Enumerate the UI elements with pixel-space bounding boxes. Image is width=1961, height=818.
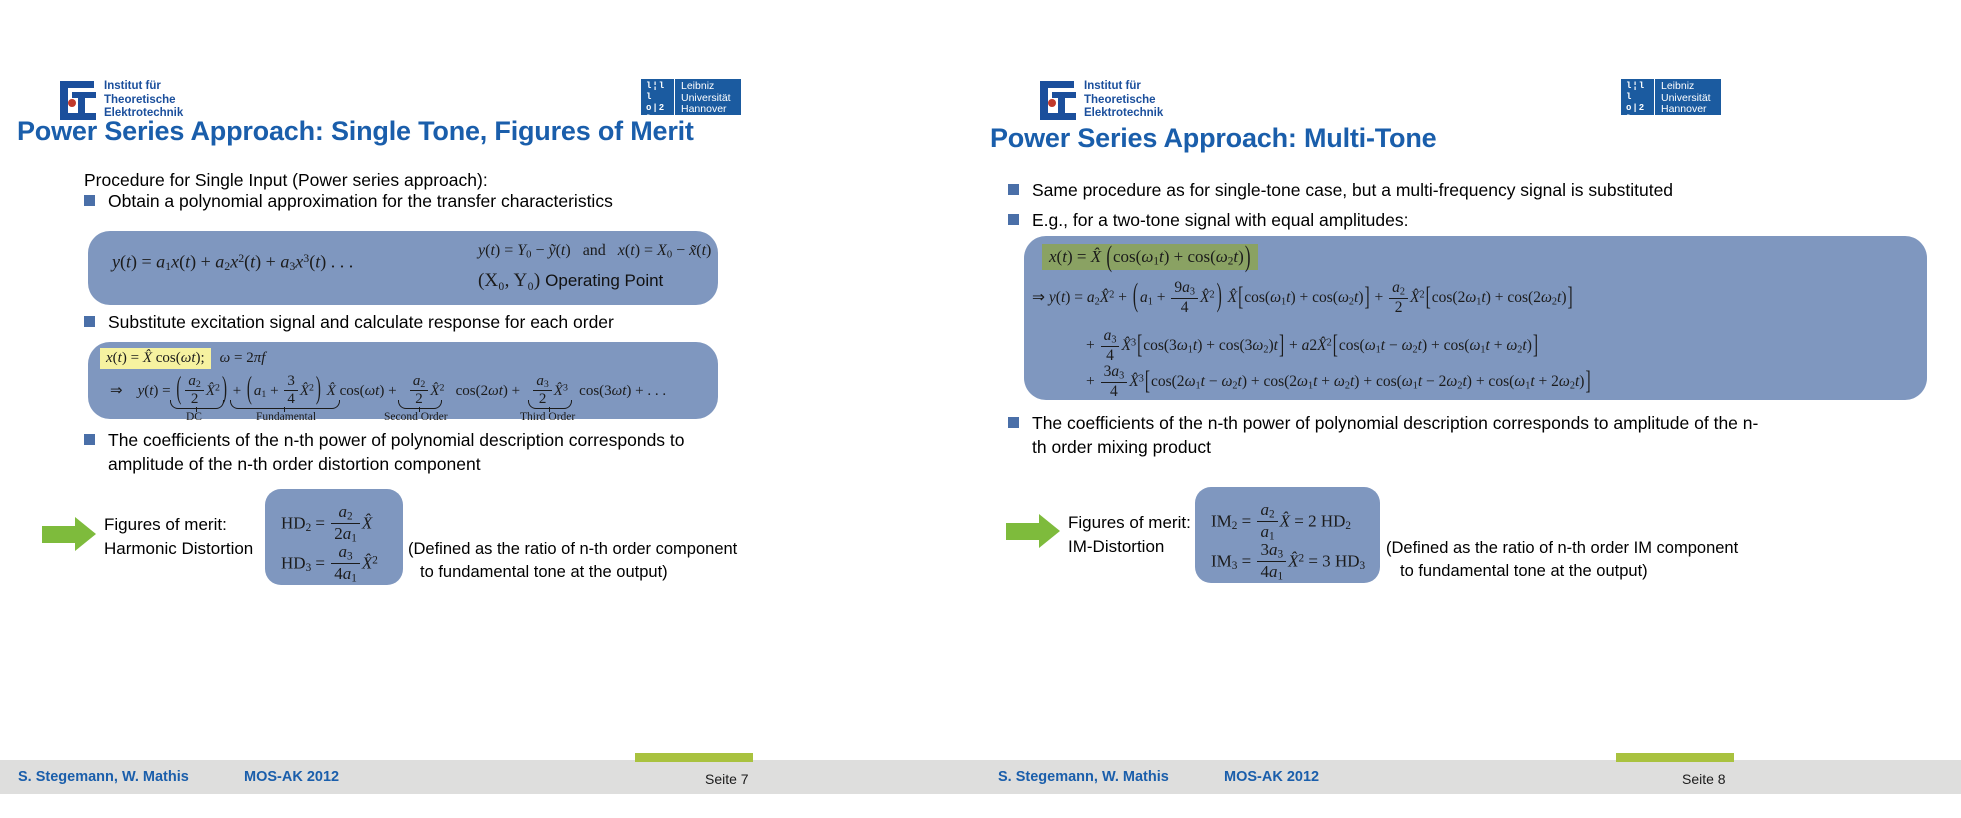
footer-authors: S. Stegemann, W. Mathis [998,769,1169,785]
page-title: Power Series Approach: Multi-Tone [990,123,1436,154]
university-logo-name: Leibniz Universität Hannover [1655,79,1721,115]
fom-note-line-1: (Defined as the ratio of n-th order comp… [408,538,737,561]
fom-note-line-2: to fundamental tone at the output) [1386,560,1738,583]
footer-conference: MOS-AK 2012 [244,769,339,785]
university-logo-code: l¦l l o|2 l o o|4 [1621,79,1655,115]
bullet-label: The coefficients of the n-th power of po… [95,428,704,476]
uni-line-1: Leibniz [681,81,731,93]
university-logo: l¦l l o|2 l o o|4 Leibniz Universität Ha… [641,79,741,115]
slide-7: Institut für Theoretische Elektrotechnik… [0,0,980,818]
institute-line-1: Institut für [104,80,183,94]
institute-logo: Institut für Theoretische Elektrotechnik [1038,78,1163,122]
fom-line-2: Harmonic Distortion [104,537,253,561]
green-arrow-icon [42,517,98,551]
operating-point-row: (X₀, Y₀) Operating Point [478,270,663,292]
omega-definition: ω = 2πf [211,350,266,367]
slide-8: Institut für Theoretische Elektrotechnik… [980,0,1961,818]
bullet-label: Substitute excitation signal and calcula… [95,310,614,334]
formula-box-harmonic-distortion: HD2 = a22a1X̂ HD3 = a34a1X̂2 [265,489,403,585]
uni-code-3: l o o|4 [1626,114,1654,136]
formula-power-series: y(t) = a1x(t) + a2x2(t) + a3x3(t) . . . [112,251,353,274]
formula-box-im-distortion: IM2 = a2a1X̂ = 2 HD2 IM3 = 3a34a1X̂2 = 3… [1195,487,1380,583]
fom-line-2: IM-Distortion [1068,535,1191,559]
fom-line-1: Figures of merit: [1068,511,1191,535]
footer-authors: S. Stegemann, W. Mathis [18,769,189,785]
university-logo: l¦l l o|2 l o o|4 Leibniz Universität Ha… [1621,79,1721,115]
uni-line-3: Hannover [1661,104,1711,116]
underbrace-label-second-order: Second Order [384,411,448,423]
university-logo-name: Leibniz Universität Hannover [675,79,741,115]
institute-line-1: Institut für [1084,80,1163,94]
bullet-square-icon [1008,184,1019,195]
underbrace-label-third-order: Third Order [520,411,575,423]
formula-operating-definitions: y(t) = Y0 − ỹ(t) and x(t) = X0 − x̃(t) [478,242,711,260]
underbrace-label-fundamental: Fundamental [256,411,316,423]
uni-code-2: l o|2 [1626,92,1654,114]
fom-note-line-1: (Defined as the ratio of n-th order IM c… [1386,537,1738,560]
bullet-two-tone-example: E.g., for a two-tone signal with equal a… [1008,208,1708,232]
bullet-square-icon [84,195,95,206]
slide-footer: S. Stegemann, W. Mathis MOS-AK 2012 Seit… [0,760,980,794]
bullet-square-icon [1008,214,1019,225]
green-arrow-icon [1006,514,1062,548]
figures-of-merit-label: Figures of merit: IM-Distortion [1068,511,1191,559]
operating-point-label: Operating Point [540,271,663,291]
footer-page-number: Seite 7 [705,771,749,787]
formula-im3: IM3 = 3a34a1X̂2 = 3 HD3 [1211,541,1365,584]
formula-im2: IM2 = a2a1X̂ = 2 HD2 [1211,501,1351,544]
footer-green-bar [635,753,753,762]
figures-of-merit-label: Figures of merit: Harmonic Distortion [104,513,253,561]
bullet-label: Same procedure as for single-tone case, … [1019,178,1673,202]
bullet-square-icon [84,316,95,327]
bullet-obtain-polynomial: Obtain a polynomial approximation for th… [84,189,744,213]
uni-code-2: l o|2 [646,92,674,114]
slide-deck: Institut für Theoretische Elektrotechnik… [0,0,1961,818]
formula-hd2: HD2 = a22a1X̂ [281,503,372,546]
bullet-same-procedure: Same procedure as for single-tone case, … [1008,178,1768,202]
footer-conference: MOS-AK 2012 [1224,769,1319,785]
institute-logo-text: Institut für Theoretische Elektrotechnik [1080,78,1163,121]
institute-logo-text: Institut für Theoretische Elektrotechnik [100,78,183,121]
multi-tone-line-2: + a34X̂3[cos(3ω1t) + cos(3ω2)t] + a2X̂2[… [1086,328,1539,365]
multi-tone-excitation-highlight: x(t) = X̂ (cos(ω1t) + cos(ω2t)) [1042,244,1258,270]
multi-tone-line-1: ⇒ y(t) = a2X̂2 + (a1 + 9a34X̂2) X̂[cos(ω… [1032,280,1574,317]
fom-line-1: Figures of merit: [104,513,253,537]
operating-point-math: (X₀, Y₀) [478,270,540,292]
intro-text: Procedure for Single Input (Power series… [84,170,488,191]
slide-footer: S. Stegemann, W. Mathis MOS-AK 2012 Seit… [980,760,1961,794]
bullet-square-icon [1008,417,1019,428]
formula-box-multi-tone: x(t) = X̂ (cos(ω1t) + cos(ω2t)) ⇒ y(t) =… [1024,236,1927,400]
figures-of-merit-note: (Defined as the ratio of n-th order IM c… [1386,537,1738,583]
institute-line-2: Theoretische [1084,94,1163,108]
fom-note-line-2: to fundamental tone at the output) [408,561,737,584]
multi-tone-line-3: + 3a34X̂3[cos(2ω1t − ω2t) + cos(2ω1t + ω… [1086,364,1592,401]
formula-box-power-series: y(t) = a1x(t) + a2x2(t) + a3x3(t) . . . … [88,231,718,305]
bullet-coefficients: The coefficients of the n-th power of po… [84,428,704,476]
uni-code-1: l¦l [1626,81,1654,92]
institute-line-3: Elektrotechnik [1084,107,1163,121]
underbrace-label-dc: DC [186,411,202,423]
excitation-highlight: x(t) = X̂ cos(ωt); [100,348,211,369]
figures-of-merit-note: (Defined as the ratio of n-th order comp… [408,538,737,584]
bullet-substitute-excitation: Substitute excitation signal and calcula… [84,310,764,334]
formula-hd3: HD3 = a34a1X̂2 [281,543,378,586]
bullet-square-icon [84,434,95,445]
uni-code-1: l¦l [646,81,674,92]
excitation-row: x(t) = X̂ cos(ωt); ω = 2πf [100,348,265,369]
bullet-coefficients-mixing: The coefficients of the n-th power of po… [1008,411,1768,459]
page-title: Power Series Approach: Single Tone, Figu… [17,116,694,147]
tet-logo-icon [1038,78,1080,122]
bullet-label: The coefficients of the n-th power of po… [1019,411,1768,459]
university-logo-code: l¦l l o|2 l o o|4 [641,79,675,115]
formula-box-single-tone: x(t) = X̂ cos(ωt); ω = 2πf ⇒ y(t) = (a22… [88,342,718,419]
institute-line-2: Theoretische [104,94,183,108]
bullet-label: E.g., for a two-tone signal with equal a… [1019,208,1408,232]
bullet-label: Obtain a polynomial approximation for th… [95,189,613,213]
footer-page-number: Seite 8 [1682,771,1726,787]
uni-line-1: Leibniz [1661,81,1711,93]
footer-green-bar [1616,753,1734,762]
uni-line-3: Hannover [681,104,731,116]
